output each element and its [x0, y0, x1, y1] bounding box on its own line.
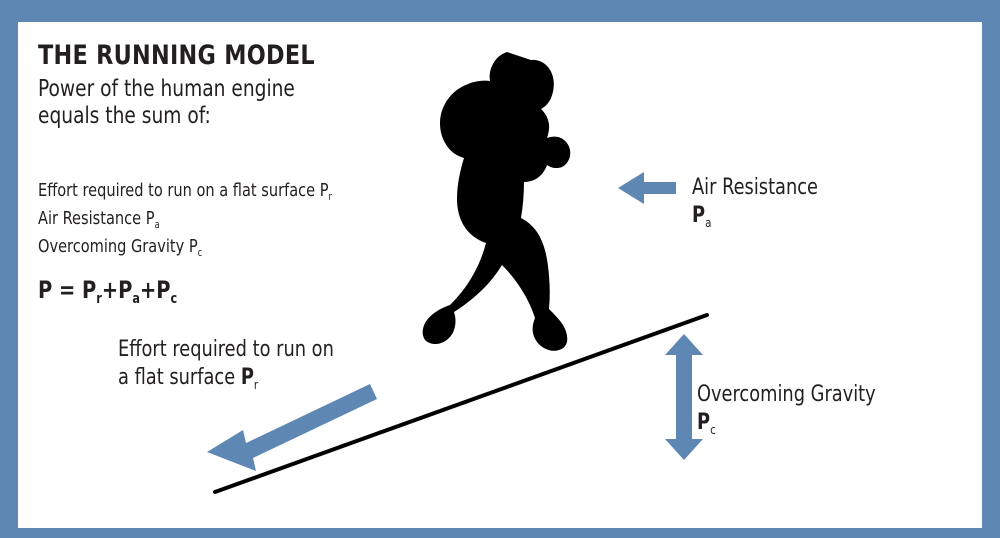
air-resistance-label-symbol: Pa [692, 202, 818, 233]
subtitle-line-2: equals the sum of: [38, 103, 295, 130]
flat-surface-label-line-2: a flat surface Pr [118, 364, 334, 395]
component-list: Effort required to run on a flat surface… [38, 178, 332, 262]
overcoming-gravity-label-line-1: Overcoming Gravity [697, 381, 876, 409]
subtitle-block: Power of the human engine equals the sum… [38, 76, 295, 130]
component-sub-0: r [329, 191, 332, 203]
frame-border-left [0, 0, 18, 538]
overcoming-gravity-subscript: c [710, 423, 716, 438]
formula-op-2: +P [140, 276, 171, 304]
flat-surface-label-line-1: Effort required to run on [118, 336, 334, 364]
frame-border-top [0, 0, 1000, 22]
component-text-2: Overcoming Gravity P [38, 236, 198, 257]
formula-sub-a: a [132, 291, 140, 307]
air-resistance-subscript: a [705, 216, 711, 231]
formula-op-1: +P [102, 276, 133, 304]
component-text-1: Air Resistance P [38, 208, 155, 229]
power-formula: P = Pr+Pa+Pc [38, 276, 177, 304]
component-sub-2: c [198, 247, 203, 259]
formula-sub-c: c [171, 291, 178, 307]
air-resistance-label: Air Resistance Pa [692, 174, 818, 233]
air-resistance-label-line-1: Air Resistance [692, 174, 818, 202]
flat-surface-label-text: a flat surface [118, 365, 241, 390]
overcoming-gravity-symbol: P [697, 410, 710, 435]
air-resistance-symbol: P [692, 203, 705, 228]
diagonal-left-arrow-icon [207, 384, 377, 471]
formula-sub-r: r [96, 291, 102, 307]
component-sub-1: a [155, 219, 160, 231]
flat-surface-subscript: r [254, 378, 258, 393]
diagram-canvas: THE RUNNING MODEL Power of the human eng… [0, 0, 1000, 538]
list-item: Overcoming Gravity Pc [38, 234, 332, 262]
overcoming-gravity-label: Overcoming Gravity Pc [697, 381, 876, 440]
frame-border-bottom [0, 528, 1000, 538]
subtitle-line-1: Power of the human engine [38, 76, 295, 103]
diagram-content: THE RUNNING MODEL Power of the human eng… [22, 26, 978, 524]
flat-surface-label: Effort required to run on a flat surface… [118, 336, 334, 395]
list-item: Air Resistance Pa [38, 206, 332, 234]
formula-lhs: P = P [38, 276, 96, 304]
list-item: Effort required to run on a flat surface… [38, 178, 332, 206]
overcoming-gravity-label-symbol: Pc [697, 409, 876, 440]
frame-border-right [982, 0, 1000, 538]
runner-silhouette-icon [423, 52, 571, 351]
left-arrow-icon [618, 172, 676, 204]
component-text-0: Effort required to run on a flat surface… [38, 180, 329, 201]
flat-surface-symbol: P [241, 365, 254, 390]
page-title: THE RUNNING MODEL [38, 40, 315, 71]
